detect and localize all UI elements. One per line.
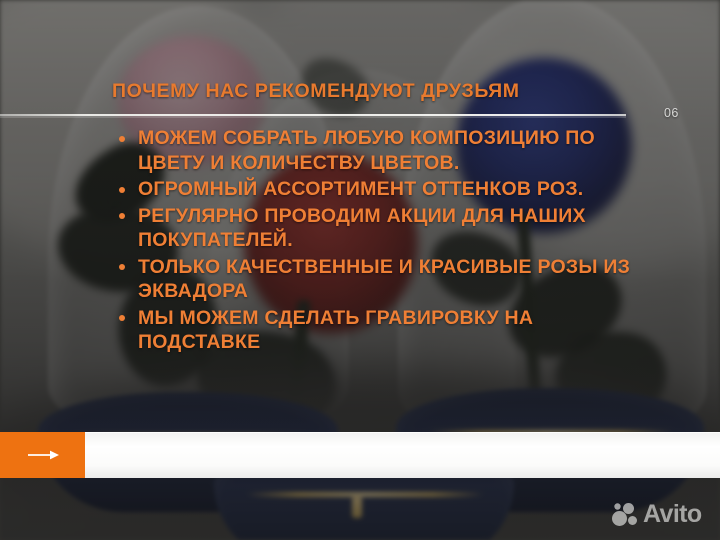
slide-title: ПОЧЕМУ НАС РЕКОМЕНДУЮТ ДРУЗЬЯМ [112,80,672,103]
bullet-dot-icon [119,136,125,142]
list-item: МЫ МОЖЕМ СДЕЛАТЬ ГРАВИРОВКУ НА ПОДСТАВКЕ [112,306,652,355]
list-item: ТОЛЬКО КАЧЕСТВЕННЫЕ И КРАСИВЫЕ РОЗЫ ИЗ Э… [112,255,652,304]
page-number: 06 [664,106,679,120]
bullet-dot-icon [119,213,125,219]
list-item-text: МОЖЕМ СОБРАТЬ ЛЮБУЮ КОМПОЗИЦИЮ ПО ЦВЕТУ … [138,127,595,174]
avito-dots-icon [611,503,638,527]
bullet-dot-icon [119,264,125,270]
bottom-bar [0,432,720,478]
list-item-text: МЫ МОЖЕМ СДЕЛАТЬ ГРАВИРОВКУ НА ПОДСТАВКЕ [138,307,533,354]
benefits-bullet-list: МОЖЕМ СОБРАТЬ ЛЮБУЮ КОМПОЗИЦИЮ ПО ЦВЕТУ … [112,126,652,357]
bottom-white-strip [85,432,720,478]
avito-watermark-text: Avito [643,502,702,527]
list-item-text: ОГРОМНЫЙ АССОРТИМЕНТ ОТТЕНКОВ РОЗ. [138,178,583,200]
list-item: МОЖЕМ СОБРАТЬ ЛЮБУЮ КОМПОЗИЦИЮ ПО ЦВЕТУ … [112,126,652,175]
next-slide-button[interactable] [0,432,85,478]
avito-watermark: Avito [611,502,702,527]
bullet-dot-icon [119,315,125,321]
list-item: ОГРОМНЫЙ АССОРТИМЕНТ ОТТЕНКОВ РОЗ. [112,177,652,202]
bullet-dot-icon [119,187,125,193]
list-item-text: ТОЛЬКО КАЧЕСТВЕННЫЕ И КРАСИВЫЕ РОЗЫ ИЗ Э… [138,256,630,303]
list-item: РЕГУЛЯРНО ПРОВОДИМ АКЦИИ ДЛЯ НАШИХ ПОКУП… [112,204,652,253]
list-item-text: РЕГУЛЯРНО ПРОВОДИМ АКЦИИ ДЛЯ НАШИХ ПОКУП… [138,205,586,252]
title-divider-line-highlight [0,116,626,118]
presentation-slide: ПОЧЕМУ НАС РЕКОМЕНДУЮТ ДРУЗЬЯМ 06 МОЖЕМ … [0,0,720,540]
slide-content: ПОЧЕМУ НАС РЕКОМЕНДУЮТ ДРУЗЬЯМ 06 МОЖЕМ … [0,0,720,540]
arrow-right-icon [26,448,60,462]
